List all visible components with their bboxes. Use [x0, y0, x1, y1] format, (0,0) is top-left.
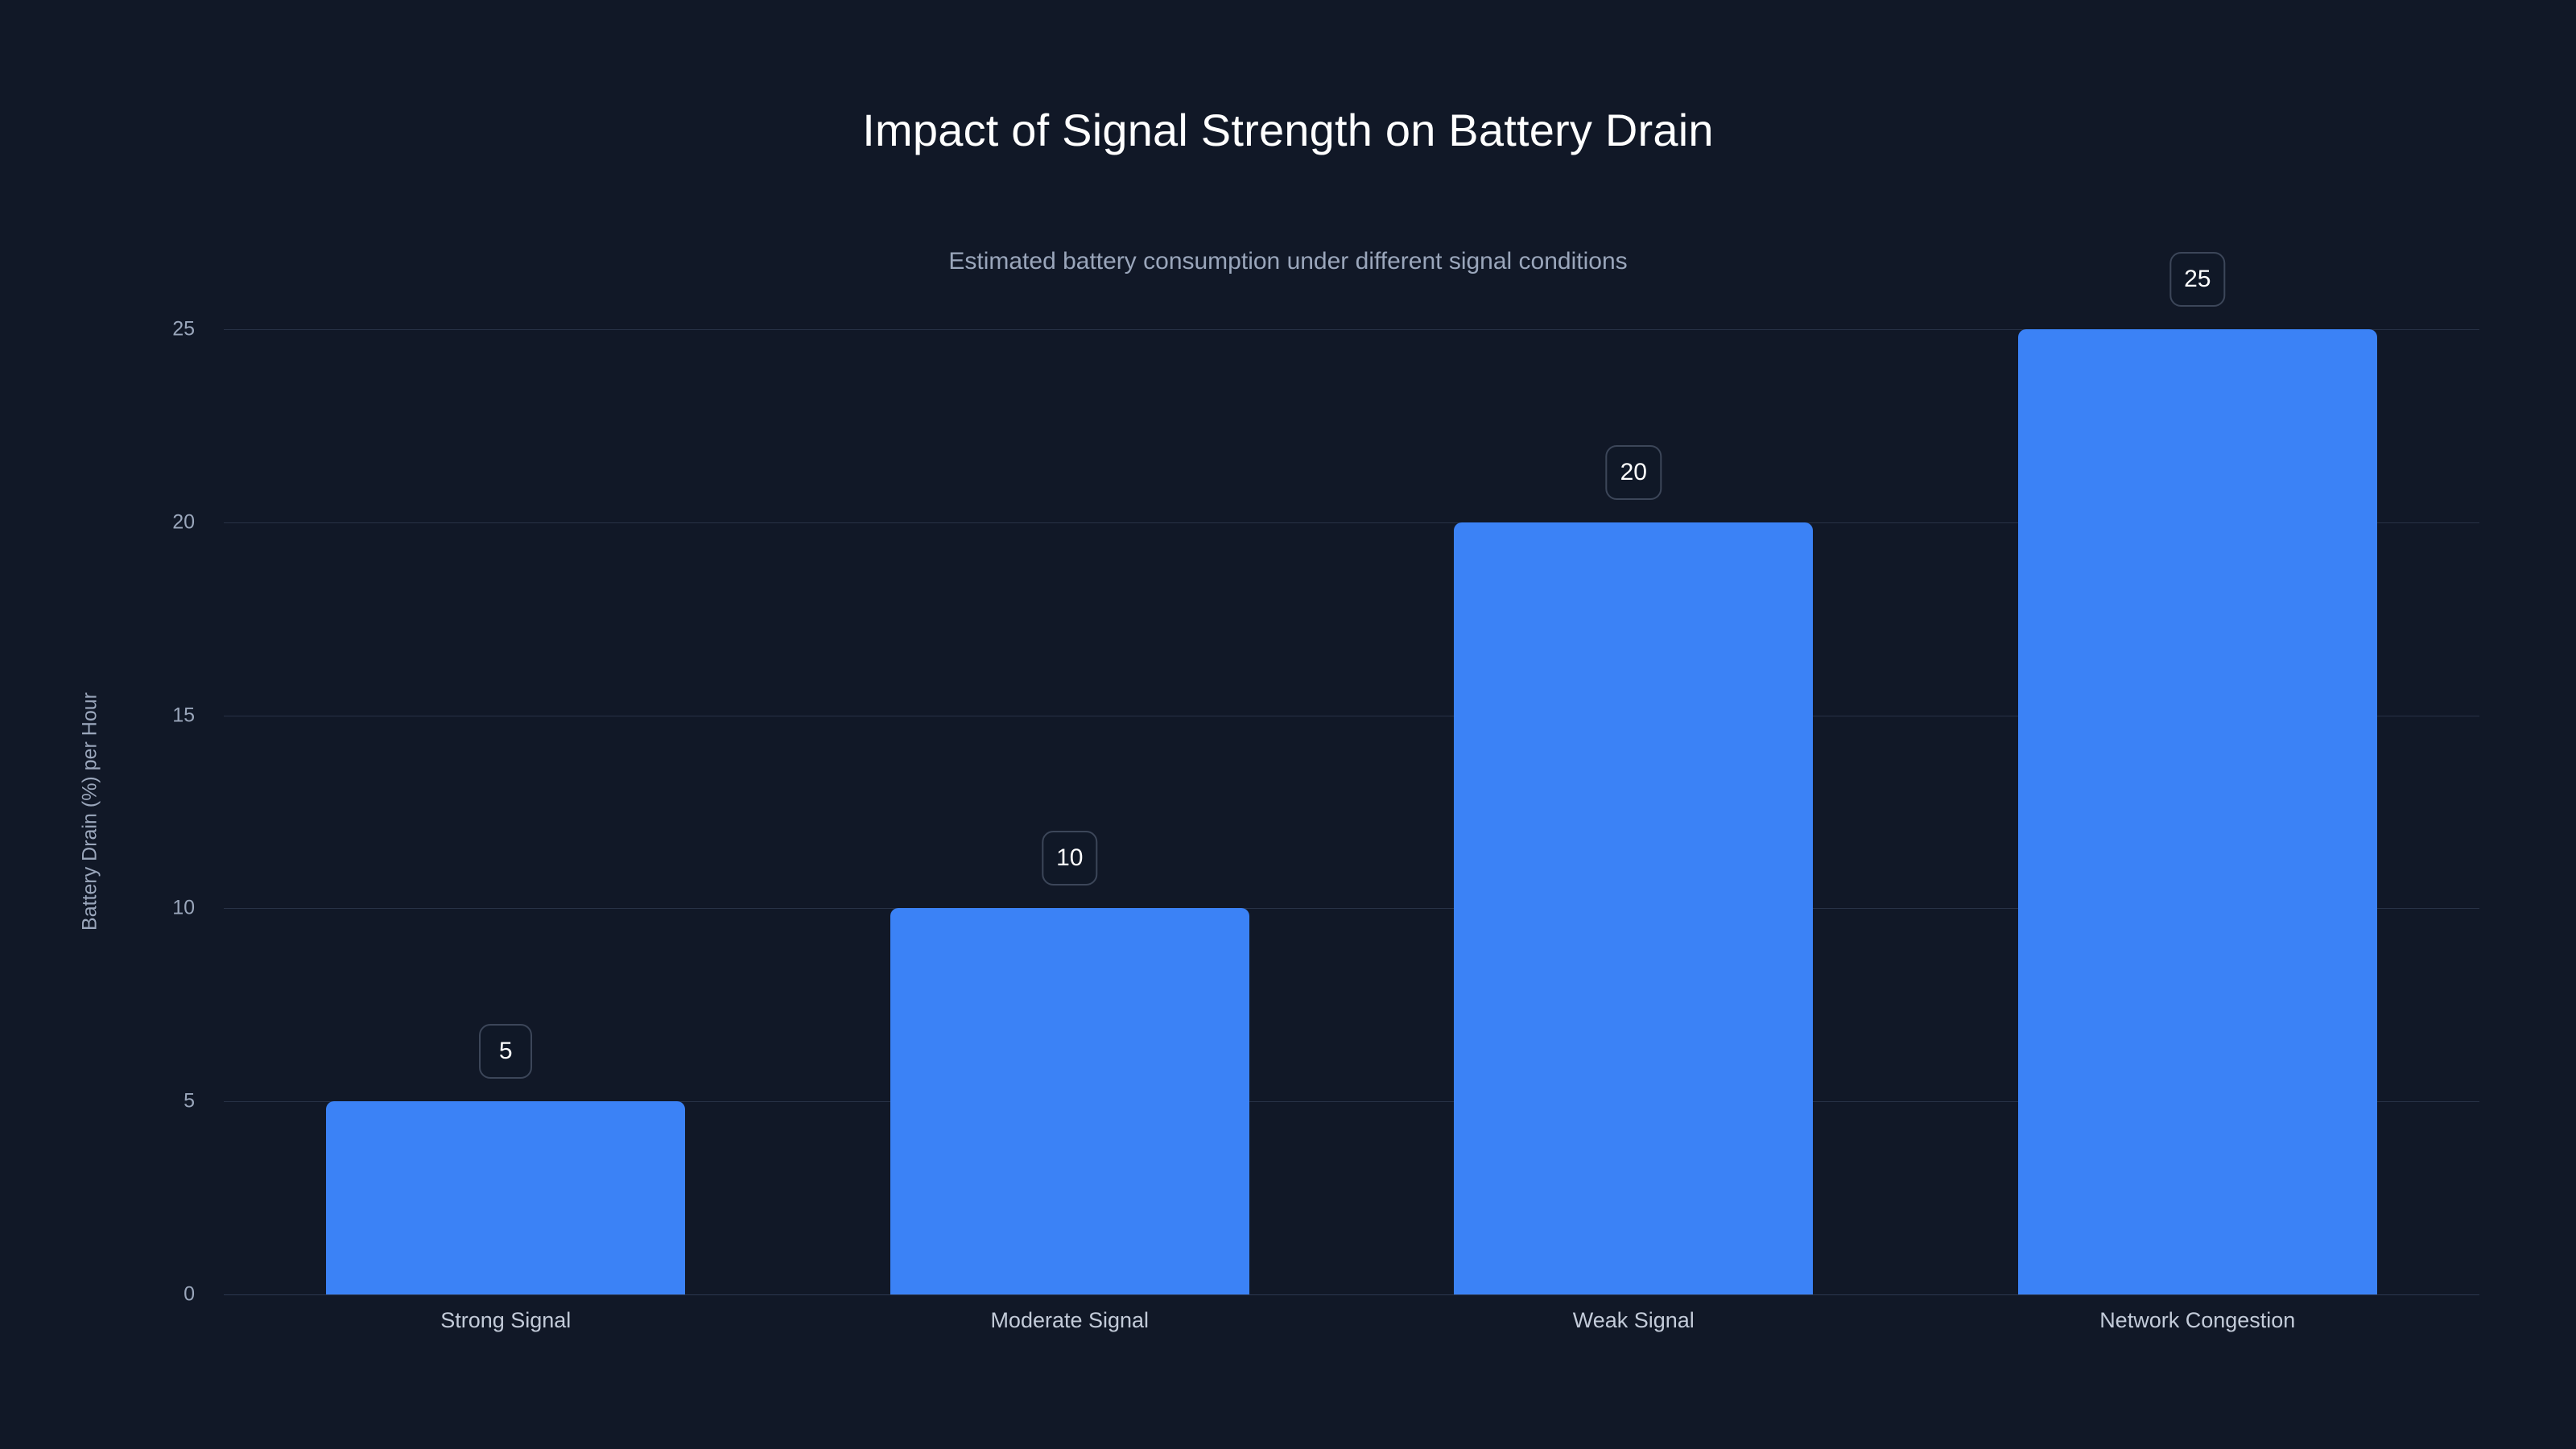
y-axis-title: Battery Drain (%) per Hour [79, 692, 102, 931]
chart-title: Impact of Signal Strength on Battery Dra… [0, 103, 2576, 157]
bar[interactable] [1454, 522, 1813, 1294]
y-tick-label: 25 [172, 320, 195, 340]
y-tick-label: 20 [172, 512, 195, 532]
y-tick-label: 5 [184, 1092, 195, 1112]
x-tick-label: Strong Signal [440, 1310, 571, 1331]
x-tick-label: Weak Signal [1573, 1310, 1695, 1331]
y-tick-label: 10 [172, 898, 195, 919]
plot-area: Strong SignalModerate SignalWeak SignalN… [224, 329, 2479, 1294]
bar[interactable] [326, 1101, 685, 1294]
x-tick-label: Network Congestion [2099, 1310, 2295, 1331]
bar-value-badge: 25 [2169, 252, 2225, 307]
bar[interactable] [890, 908, 1249, 1294]
bar-chart-canvas: Impact of Signal Strength on Battery Dra… [0, 0, 2576, 1449]
gridline [224, 1294, 2479, 1295]
bar[interactable] [2018, 329, 2377, 1294]
y-tick-label: 15 [172, 705, 195, 725]
x-tick-label: Moderate Signal [990, 1310, 1149, 1331]
y-tick-label: 0 [184, 1285, 195, 1305]
